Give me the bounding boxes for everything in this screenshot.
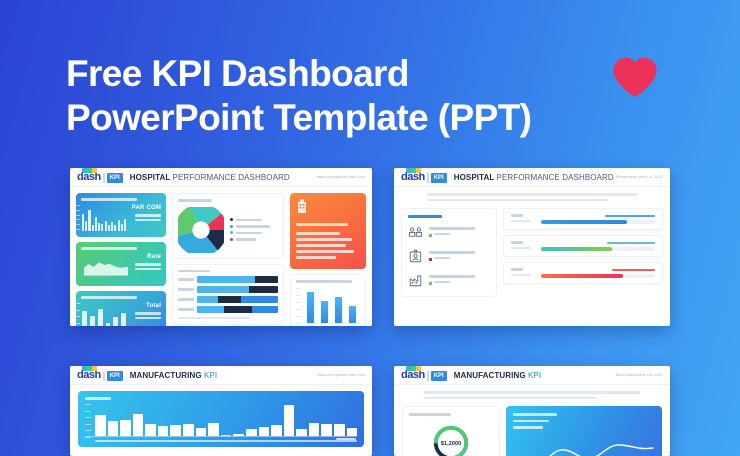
thumbnail-hospital-performance-dashboard-kpi-rows[interactable]: dash KPI HOSPITAL PERFORMANCE DASHBOARD … — [394, 168, 670, 326]
bar-series — [85, 403, 357, 437]
legend-dot-icon — [230, 218, 233, 221]
donut-title — [409, 413, 451, 416]
logo-badge: KPI — [107, 173, 123, 183]
slide-meta: www.someplaceholder.com — [317, 373, 365, 377]
status-badge — [429, 281, 475, 286]
orange-card-title — [296, 223, 348, 226]
chart-footnote — [336, 438, 356, 440]
operations-overview-card[interactable] — [290, 193, 366, 269]
focus-areas-panel[interactable] — [401, 208, 497, 297]
kpi-caption — [612, 269, 655, 271]
kpi-caption — [607, 242, 655, 244]
card-kpi-value: PAR COM — [127, 205, 161, 211]
slide-title: MANUFACTURING KPI — [130, 371, 218, 380]
dash-logo: dash KPI — [401, 172, 447, 183]
slide-title: MANUFACTURING KPI — [454, 371, 542, 380]
dash-logo: dash KPI — [401, 370, 447, 381]
stacked-bar-list — [178, 276, 278, 313]
logo-word: dash — [401, 172, 425, 183]
pie-chart-title — [178, 199, 212, 202]
department-column-chart-card[interactable] — [290, 274, 366, 326]
card-kpi-readout: PAR COM — [127, 205, 161, 223]
logo-tick-icon — [82, 366, 97, 371]
stacked-bar-row — [178, 296, 278, 303]
slide-title-bold: MANUFACTURING — [130, 371, 202, 380]
teal-bar-kpi-card[interactable]: Total — [76, 291, 166, 326]
pie-legend — [230, 218, 270, 241]
kpi-progress-column — [503, 208, 663, 297]
slide-title: HOSPITAL PERFORMANCE DASHBOARD — [130, 173, 290, 182]
slide-title: HOSPITAL PERFORMANCE DASHBOARD — [454, 173, 614, 182]
people-icon — [408, 225, 423, 240]
slide-title-regular: PERFORMANCE DASHBOARD — [497, 173, 614, 182]
card-kpi-readout: Total — [127, 303, 161, 321]
legend-item — [230, 225, 270, 228]
slide-body: PAR COM R — [70, 187, 372, 326]
card-kpi-value: Rate — [127, 254, 161, 260]
slide-meta: www.someplaceholder.com — [317, 175, 365, 179]
card-title — [81, 296, 137, 299]
slide-header: dash KPI HOSPITAL PERFORMANCE DASHBOARD … — [394, 168, 670, 187]
slide-title-bold: MANUFACTURING — [454, 371, 526, 380]
logo-word: dash — [401, 370, 425, 381]
trend-line-card[interactable] — [506, 406, 662, 456]
mini-bar-chart — [82, 207, 126, 231]
department-pie-chart — [178, 207, 224, 253]
green-area-kpi-card[interactable]: Rate — [76, 242, 166, 286]
blue-bar-kpi-card[interactable]: PAR COM — [76, 193, 166, 237]
list-item[interactable] — [408, 273, 490, 288]
logo-tick-icon — [406, 168, 421, 173]
page-title-line-1: Free KPI Dashboard — [66, 52, 676, 96]
building-icon — [296, 199, 308, 213]
mini-area-chart — [84, 258, 128, 276]
hero-title-block: Free KPI Dashboard PowerPoint Template (… — [66, 52, 676, 140]
kpi-row-label — [511, 214, 533, 224]
list-item[interactable] — [408, 225, 490, 240]
logo-word: dash — [77, 172, 101, 183]
sparkline-chart — [535, 438, 655, 456]
heart-icon — [612, 56, 658, 98]
logo-tick-icon — [82, 168, 97, 173]
kpi-progress-track — [541, 215, 655, 224]
factory-icon — [408, 273, 423, 288]
card-title — [81, 198, 137, 201]
slide-title-regular: PERFORMANCE DASHBOARD — [173, 173, 290, 182]
kpi-progress-row[interactable] — [503, 208, 663, 230]
slide-title-bold: HOSPITAL — [130, 173, 171, 182]
slide-body — [70, 391, 372, 447]
stacked-bar-row — [178, 306, 278, 313]
logo-tick-icon — [406, 366, 421, 371]
legend-dot-icon — [230, 231, 233, 234]
kpi-row-label — [511, 268, 533, 278]
slide-header: dash KPI MANUFACTURING KPI www.someplace… — [70, 366, 372, 385]
logo-divider — [103, 371, 105, 381]
slide-body — [394, 193, 670, 304]
kpi-progress-row[interactable] — [503, 235, 663, 257]
donut-chart: $1,2000 — [431, 423, 471, 456]
logo-badge: KPI — [431, 173, 447, 183]
column-chart-title — [296, 280, 352, 283]
kpi-caption — [605, 215, 655, 217]
dash-logo: dash KPI — [77, 370, 123, 381]
middle-column — [172, 193, 284, 326]
focus-areas-title — [408, 215, 442, 218]
dash-logo: dash KPI — [77, 172, 123, 183]
legend-dot-icon — [230, 238, 233, 241]
y-axis-ticks — [76, 303, 81, 326]
slide-header: dash KPI HOSPITAL PERFORMANCE DASHBOARD … — [70, 168, 372, 187]
slide-body: $1,2000 — [394, 391, 670, 456]
slide-title-bold: HOSPITAL — [454, 173, 495, 182]
stacked-bar-row — [178, 286, 278, 293]
gridlines — [296, 288, 302, 324]
page-title-line-2: PowerPoint Template (PPT) — [66, 96, 676, 140]
y-axis-ticks — [76, 205, 81, 230]
logo-badge: KPI — [431, 371, 447, 381]
slide-title-regular: KPI — [204, 371, 217, 380]
slide-meta: Department one bi.c. 2021 — [616, 175, 663, 179]
legend-item — [230, 218, 270, 221]
list-item-text — [429, 227, 475, 238]
list-item[interactable] — [408, 249, 490, 264]
stacked-bars-footnote — [178, 317, 250, 319]
card-kpi-readout: Rate — [127, 254, 161, 272]
y-axis-ticks — [85, 404, 92, 438]
list-item-text — [429, 275, 475, 286]
intro-text-block — [424, 391, 640, 399]
key-objectives-card[interactable] — [172, 264, 284, 326]
kpi-row-label — [511, 241, 533, 251]
legend-item — [230, 238, 270, 241]
list-item-text — [429, 251, 475, 262]
kpi-progress-track — [541, 269, 655, 278]
x-axis-labels — [304, 326, 360, 327]
intro-text-block — [427, 193, 637, 201]
status-badge — [429, 233, 475, 238]
slide-title-regular: KPI — [528, 371, 541, 380]
mini-bar-chart — [82, 305, 126, 326]
logo-divider — [427, 371, 429, 381]
stacked-bars-title — [178, 270, 210, 273]
focus-areas-column — [401, 208, 497, 297]
slide-header: dash KPI MANUFACTURING KPI Build Dashboa… — [394, 366, 670, 385]
hourly-output-bar-chart-card[interactable] — [78, 391, 364, 447]
department-pie-card[interactable] — [172, 193, 284, 259]
right-column — [290, 193, 366, 326]
legend-item — [230, 231, 270, 234]
thumbnail-manufacturing-kpi-summary[interactable]: dash KPI MANUFACTURING KPI Build Dashboa… — [394, 366, 670, 456]
card-kpi-value: Total — [127, 303, 161, 309]
slide-meta: Build Dashboard one 2021 — [616, 373, 663, 377]
logo-word: dash — [77, 370, 101, 381]
column-chart — [296, 288, 360, 327]
poster-canvas: Free KPI Dashboard PowerPoint Template (… — [0, 0, 740, 456]
bar-chart-title — [85, 397, 111, 400]
thumbnail-manufacturing-kpi-bar-chart[interactable]: dash KPI MANUFACTURING KPI www.someplace… — [70, 366, 372, 456]
stacked-bar-row — [178, 276, 278, 283]
thumbnail-hospital-performance-dashboard-overview[interactable]: dash KPI HOSPITAL PERFORMANCE DASHBOARD … — [70, 168, 372, 326]
logo-badge: KPI — [107, 371, 123, 381]
kpi-progress-track — [541, 242, 655, 251]
legend-dot-icon — [230, 225, 233, 228]
logo-divider — [103, 173, 105, 183]
gradient-card-column: PAR COM R — [76, 193, 166, 326]
total-production-donut-card[interactable]: $1,2000 — [402, 406, 500, 456]
logo-divider — [427, 173, 429, 183]
status-badge — [429, 257, 475, 262]
donut-value: $1,2000 — [441, 440, 462, 446]
kpi-progress-row[interactable] — [503, 262, 663, 284]
x-axis-labels — [95, 440, 357, 442]
card-title — [81, 247, 137, 250]
id-badge-icon — [408, 249, 423, 264]
